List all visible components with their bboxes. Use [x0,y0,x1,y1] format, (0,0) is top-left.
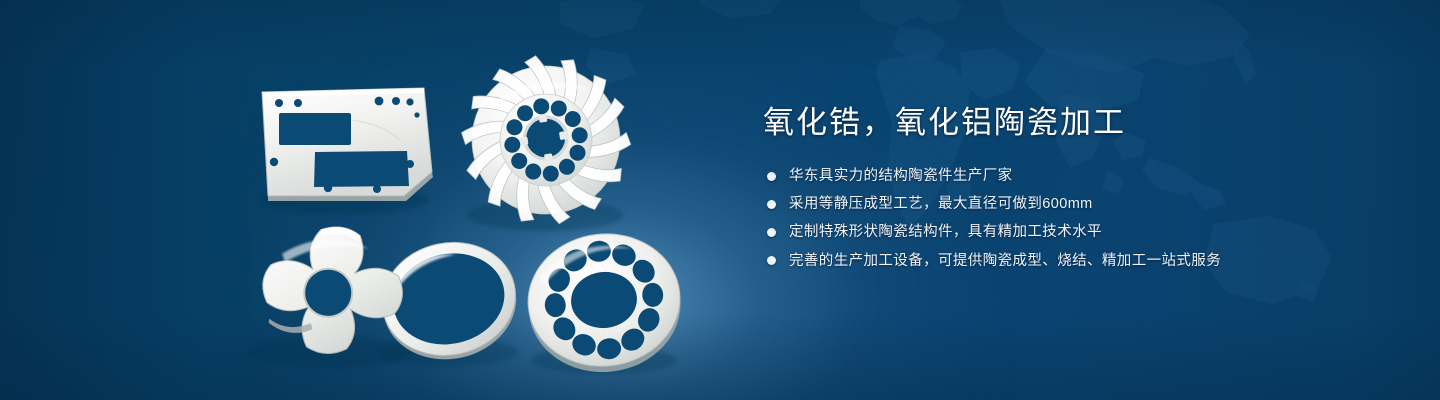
feature-list: 华东具实力的结构陶瓷件生产厂家 采用等静压成型工艺，最大直径可做到600mm 定… [767,167,1323,270]
bullet-dot-icon [767,200,776,209]
list-item-label: 完善的生产加工设备，可提供陶瓷成型、烧结、精加工一站式服务 [789,252,1221,270]
list-item: 华东具实力的结构陶瓷件生产厂家 [767,167,1323,185]
list-item-label: 采用等静压成型工艺，最大直径可做到600mm [789,195,1093,213]
ceramic-plate [262,88,433,201]
list-item: 完善的生产加工设备，可提供陶瓷成型、烧结、精加工一站式服务 [767,252,1323,270]
bullet-dot-icon [767,256,776,265]
list-item: 采用等静压成型工艺，最大直径可做到600mm [767,195,1323,213]
bullet-dot-icon [767,228,776,237]
bullet-dot-icon [767,172,776,181]
page-title: 氧化锆，氧化铝陶瓷加工 [763,104,1323,141]
list-item: 定制特殊形状陶瓷结构件，具有精加工技术水平 [767,223,1323,241]
product-image-cluster [0,0,760,400]
banner-text-block: 氧化锆，氧化铝陶瓷加工 华东具实力的结构陶瓷件生产厂家 采用等静压成型工艺，最大… [763,104,1323,280]
list-item-label: 定制特殊形状陶瓷结构件，具有精加工技术水平 [789,223,1102,241]
hero-banner: 氧化锆，氧化铝陶瓷加工 华东具实力的结构陶瓷件生产厂家 采用等静压成型工艺，最大… [0,0,1440,400]
list-item-label: 华东具实力的结构陶瓷件生产厂家 [789,167,1013,185]
